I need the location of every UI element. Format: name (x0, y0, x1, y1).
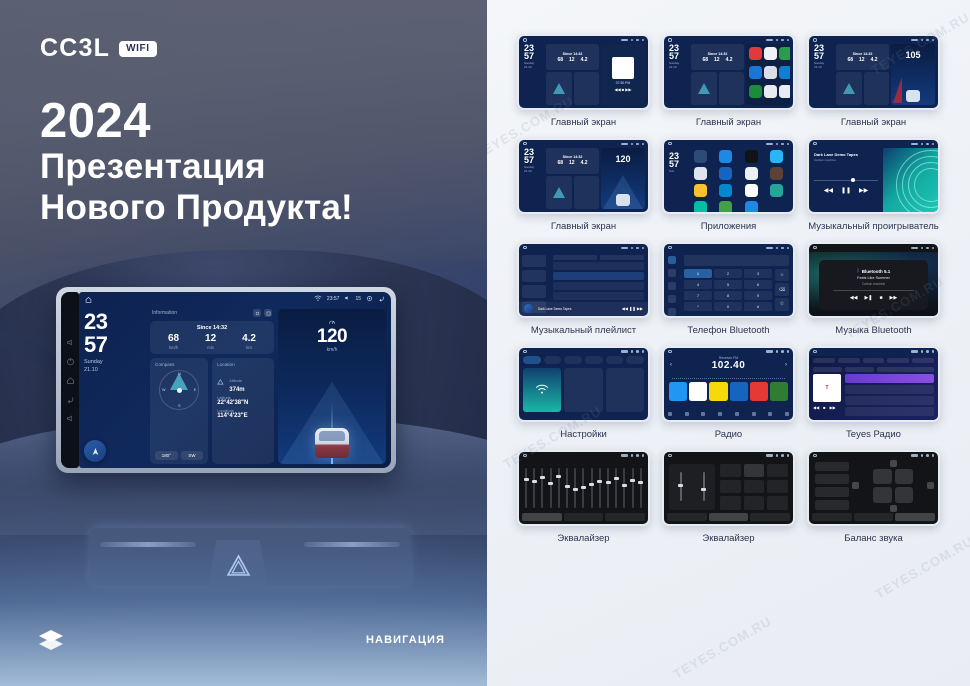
gallery-item-equalizer-simple[interactable]: Эквалайзер (662, 450, 795, 545)
next-button[interactable]: ▶▶ (830, 405, 836, 410)
refresh-icon[interactable] (253, 309, 261, 317)
gallery-row: Dark Lane Demo Tapes ◀◀ ❚❚ ▶▶ Музыкальны… (505, 242, 952, 337)
gallery-item-bt-music[interactable]: ᛒ Bluetooth 5.1 Feels Like Summer Carbon… (807, 242, 940, 337)
headline-line1: Презентация (40, 147, 353, 188)
gallery-caption: Музыкальный плейлист (531, 325, 636, 337)
next-button[interactable]: ▶▶ (890, 295, 898, 301)
stat-value: 4.2 (242, 334, 256, 344)
screens-gallery-panel: TEYES.COM.RU TEYES.COM.RU TEYES.COM.RU T… (487, 0, 970, 686)
gallery-item-home-apps[interactable]: 2357Sunday21.10 Since 14:3268124.2 (662, 34, 795, 129)
presentation-slide: CC3L WIFI 2024 Презентация Нового Продук… (0, 0, 970, 686)
trip-stats: 68 km/h 12 min 4.2 km (155, 334, 269, 350)
back-button[interactable] (66, 395, 75, 404)
gallery-row: Эквалайзер (505, 450, 952, 545)
gallery-caption: Главный экран (841, 117, 906, 129)
stat-unit: min (205, 345, 216, 350)
bt-artist: Carbon machine (862, 282, 885, 286)
playlist-now-playing-bar[interactable]: Dark Lane Demo Tapes ◀◀ ❚❚ ▶▶ (519, 302, 648, 316)
compass-mark-w: W (162, 388, 165, 392)
headline-line2: Нового Продукта! (40, 188, 353, 229)
favorite-icon[interactable]: ☆ (775, 269, 789, 282)
stat-value: 12 (205, 334, 216, 344)
gallery-item-equalizer-bars[interactable]: Эквалайзер (517, 450, 650, 545)
gallery-caption: Настройки (560, 429, 607, 441)
info-column: Information Since 14:32 (150, 309, 274, 464)
gallery-row: 2357Sunday21.10 Since 14:3268124.2 120 (505, 138, 952, 233)
prev-station-button[interactable]: ‹ (670, 362, 672, 368)
gallery-caption: Музыкальный проигрыватель (808, 221, 938, 233)
status-bar: 23:57 15 (79, 292, 391, 306)
clock-minutes: 57 (84, 335, 146, 355)
thumbnail-equalizer-simple[interactable] (662, 450, 795, 526)
gallery-item-apps[interactable]: 2357Sun Приложения (662, 138, 795, 233)
power-button[interactable] (66, 357, 75, 366)
call-icon[interactable]: ✆ (775, 298, 789, 311)
stat-unit: km/h (168, 345, 179, 350)
longitude-row: Longitude 114°4'23"E (217, 409, 269, 419)
gallery-caption: Teyes Радио (846, 429, 901, 441)
volume-level: 15 (355, 296, 361, 302)
compass-mark-n: N (178, 372, 181, 376)
information-header: Information (150, 309, 274, 317)
gallery-caption: Радио (715, 429, 742, 441)
gallery-caption: Музыка Bluetooth (835, 325, 911, 337)
speed-value: 105 (891, 50, 935, 60)
location-widget[interactable]: Location Altitude 374m (212, 358, 274, 464)
volume-up-button[interactable] (66, 338, 75, 347)
gallery-caption: Эквалайзер (557, 533, 609, 545)
app-grid[interactable] (690, 150, 787, 208)
volume-icon (344, 295, 350, 303)
head-unit-device: 23:57 15 (56, 287, 396, 473)
stat-distance: 4.2 km (242, 334, 256, 350)
gallery-item-settings[interactable]: Настройки (517, 346, 650, 441)
altitude-row: Altitude 374m (217, 369, 269, 393)
bluetooth-icon: ᛒ (857, 268, 860, 274)
location-title: Location (217, 362, 269, 367)
pause-button[interactable]: ❚❚ (841, 187, 851, 194)
speed-unit: km/h (278, 347, 386, 353)
mountain-icon (217, 372, 226, 390)
home-screen-body: 23 57 Sunday 21.10 Information (79, 306, 391, 468)
gallery-caption: Главный экран (551, 221, 616, 233)
gallery-caption: Главный экран (696, 117, 761, 129)
clock-date: 21.10 (84, 367, 146, 374)
clock-day: Sunday (84, 359, 146, 366)
thumbnail-equalizer-bars[interactable] (517, 450, 650, 526)
stat-avg-speed: 68 km/h (168, 334, 179, 350)
wifi-icon (314, 295, 322, 304)
compass-mark-e: E (194, 388, 196, 392)
longitude-value: 114°4'23"E (217, 413, 269, 419)
gallery-grid: 2357Sunday21.10 Since 14:3268124.2 07:50… (505, 34, 952, 672)
head-unit-screen[interactable]: 23:57 15 (79, 292, 391, 468)
gallery-item-playlist[interactable]: Dark Lane Demo Tapes ◀◀ ❚❚ ▶▶ Музыкальны… (517, 242, 650, 337)
station-list[interactable] (845, 374, 934, 416)
gallery-row: Настройки Receiver FM ‹ 102.40 › (505, 346, 952, 441)
latitude-row: Latitude 22°42'38"N (217, 396, 269, 406)
gallery-caption: Приложения (701, 221, 757, 233)
stop-button[interactable]: ■ (880, 295, 883, 301)
compass-needle (177, 388, 182, 393)
balance-presets[interactable] (815, 462, 849, 510)
back-arrow-icon[interactable] (378, 295, 385, 304)
track-title: Dark Lane Demo Tapes (814, 152, 878, 157)
gallery-item-teyes-radio[interactable]: T ◀◀ ■ ▶▶ (807, 346, 940, 441)
status-home-icon[interactable] (85, 296, 92, 303)
trip-information-card[interactable]: Since 14:32 68 km/h 12 min (150, 321, 274, 354)
thumbnail-radio[interactable]: Receiver FM ‹ 102.40 › (662, 346, 795, 422)
information-title: Information (152, 310, 177, 316)
latitude-value: 22°42'38"N (217, 400, 269, 406)
previous-button[interactable]: ◀◀ (850, 295, 858, 301)
navigation-label: НАВИГАЦИЯ (366, 634, 445, 646)
gallery-caption: Главный экран (551, 117, 616, 129)
gear-icon[interactable] (366, 295, 373, 304)
bt-track-title: Feels Like Summer (857, 276, 890, 280)
thumbnail-teyes-radio[interactable]: T ◀◀ ■ ▶▶ (807, 346, 940, 422)
car-3d-model (315, 428, 349, 458)
gallery-row: 2357Sunday21.10 Since 14:3268124.2 07:50… (505, 34, 952, 129)
stop-button[interactable]: ■ (823, 405, 825, 410)
album-art: T (813, 374, 841, 402)
layers-icon[interactable] (38, 628, 64, 652)
compass-mark-s: S (178, 404, 180, 408)
next-button[interactable]: ▶▶ (859, 187, 868, 194)
hero-bottom-light (0, 486, 487, 686)
clock-widget[interactable]: 23 57 Sunday 21.10 (84, 309, 146, 464)
thumbnail-home-speed2[interactable]: 2357Sunday21.10 Since 14:3268124.2 120 (517, 138, 650, 214)
thumbnail-sound-balance[interactable] (807, 450, 940, 526)
gallery-item-sound-balance[interactable]: Баланс звука (807, 450, 940, 545)
compass-direction: SW (181, 451, 204, 460)
wifi-badge: WIFI (119, 41, 157, 57)
volume-down-button[interactable] (66, 414, 75, 423)
dialpad[interactable]: 123 456 789 *0# ☆ ⌫ ✆ (684, 269, 789, 311)
gallery-caption: Эквалайзер (702, 533, 754, 545)
home-button[interactable] (66, 376, 75, 385)
gallery-item-radio[interactable]: Receiver FM ‹ 102.40 › (662, 346, 795, 441)
navigation-button[interactable] (84, 440, 106, 462)
gallery-item-music-player[interactable]: Dark Lane Demo Tapes Carbon machine ◀◀ ❚… (807, 138, 940, 233)
thumbnail-bt-music[interactable]: ᛒ Bluetooth 5.1 Feels Like Summer Carbon… (807, 242, 940, 318)
product-name: CC3L (40, 34, 110, 63)
gallery-caption: Телефон Bluetooth (687, 325, 769, 337)
headline: 2024 Презентация Нового Продукта! (40, 96, 353, 229)
stat-duration: 12 min (205, 334, 216, 350)
previous-button[interactable]: ◀◀ (824, 187, 833, 194)
thumbnail-music-player[interactable]: Dark Lane Demo Tapes Carbon machine ◀◀ ❚… (807, 138, 940, 214)
phone-number-input[interactable] (684, 255, 789, 266)
thumbnail-playlist[interactable]: Dark Lane Demo Tapes ◀◀ ❚❚ ▶▶ (517, 242, 650, 318)
thumbnail-home-media[interactable]: 2357Sunday21.10 Since 14:3268124.2 07:50… (517, 34, 650, 110)
hero-panel: CC3L WIFI 2024 Презентация Нового Продук… (0, 0, 487, 686)
compass-widget[interactable]: Compass N E S W 180° (150, 358, 208, 464)
speed-value: 120 (278, 327, 386, 346)
cc3l-wifi-logo: CC3L WIFI (40, 34, 157, 63)
clock-hours: 23 (84, 312, 146, 332)
wifi-settings-card[interactable] (523, 368, 561, 412)
thumbnail-home-speed[interactable]: 2357Sunday21.10 Since 14:3268124.2 105 (807, 34, 940, 110)
compass-heading: 180° (155, 451, 178, 460)
trip-since-label: Since 14:32 (155, 325, 269, 331)
stat-value: 68 (168, 334, 179, 344)
thumbnail-bt-phone[interactable]: 123 456 789 *0# ☆ ⌫ ✆ (662, 242, 795, 318)
music-visualizer (883, 148, 938, 212)
head-unit-bezel-buttons[interactable] (61, 292, 79, 468)
thumbnail-settings[interactable] (517, 346, 650, 422)
gallery-caption: Баланс звука (844, 533, 903, 545)
carplay-settings-card[interactable] (564, 368, 602, 412)
gallery-item-home-speed[interactable]: 2357Sunday21.10 Since 14:3268124.2 105 (807, 34, 940, 129)
next-station-button[interactable]: › (785, 362, 787, 368)
other-settings-card[interactable] (606, 368, 644, 412)
previous-button[interactable]: ◀◀ (813, 405, 819, 410)
status-time: 23:57 (327, 296, 340, 302)
radio-presets[interactable] (664, 382, 793, 401)
speed-widget[interactable]: 120 km/h (278, 309, 386, 464)
backspace-icon[interactable]: ⌫ (775, 283, 789, 296)
gallery-item-bt-phone[interactable]: 123 456 789 *0# ☆ ⌫ ✆ (662, 242, 795, 337)
compass-dial: N E S W (159, 370, 199, 410)
thumbnail-home-apps[interactable]: 2357Sunday21.10 Since 14:3268124.2 (662, 34, 795, 110)
thumbnail-apps[interactable]: 2357Sun (662, 138, 795, 214)
speed-value: 120 (601, 154, 645, 164)
settings-tabs[interactable] (523, 356, 644, 364)
headline-year: 2024 (40, 96, 353, 147)
expand-icon[interactable] (264, 309, 272, 317)
balance-pad[interactable] (854, 462, 932, 510)
equalizer-sliders[interactable] (525, 468, 642, 508)
compass-title: Compass (155, 362, 203, 367)
gallery-item-home-media[interactable]: 2357Sunday21.10 Since 14:3268124.2 07:50… (517, 34, 650, 129)
altitude-label: Altitude (229, 379, 242, 383)
bt-progress-bar[interactable] (833, 290, 914, 291)
radio-tuning-scale[interactable] (672, 374, 785, 379)
altitude-value: 374m (229, 387, 244, 393)
bt-device-name: Bluetooth 5.1 (862, 269, 891, 274)
stat-unit: km (242, 345, 256, 350)
radio-frequency: 102.40 (712, 360, 746, 371)
play-pause-button[interactable]: ▶❚ (864, 295, 872, 301)
gallery-item-home-speed2[interactable]: 2357Sunday21.10 Since 14:3268124.2 120 (517, 138, 650, 233)
